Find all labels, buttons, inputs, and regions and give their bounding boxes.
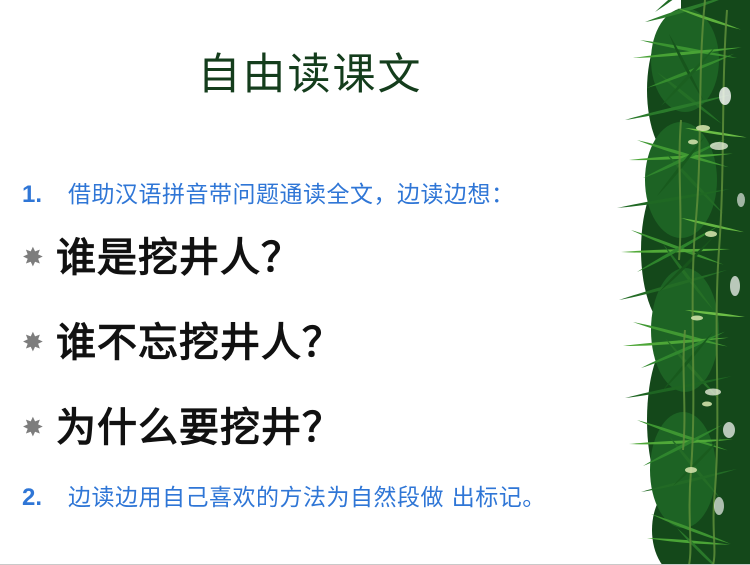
instruction-text-1: 借助汉语拼音带问题通读全文，边读边想： — [68, 175, 515, 209]
instruction-number-2: 2. — [22, 484, 68, 512]
question-text-1: 谁是挖井人？ — [56, 238, 302, 278]
instruction-line-1: 1. 借助汉语拼音带问题通读全文，边读边想： — [22, 175, 515, 209]
question-text-3: 为什么要挖井？ — [56, 408, 343, 448]
page-title: 自由读课文 — [0, 52, 620, 99]
question-text-2: 谁不忘挖井人？ — [56, 323, 343, 363]
presentation-slide: 自由读课文 1. 借助汉语拼音带问题通读全文，边读边想： ✸ 谁是挖井人？ ✸ … — [0, 0, 750, 565]
instruction-line-2: 2. 边读边用自己喜欢的方法为自然段做 出标记。 — [22, 478, 546, 512]
instruction-text-2: 边读边用自己喜欢的方法为自然段做 出标记。 — [68, 478, 546, 512]
star-bullet-icon: ✸ — [22, 245, 56, 271]
question-item-2: ✸ 谁不忘挖井人？ — [22, 323, 343, 363]
star-bullet-icon: ✸ — [22, 415, 56, 441]
star-bullet-icon: ✸ — [22, 330, 56, 356]
question-item-3: ✸ 为什么要挖井？ — [22, 408, 343, 448]
question-item-1: ✸ 谁是挖井人？ — [22, 238, 302, 278]
instruction-number-1: 1. — [22, 181, 68, 209]
